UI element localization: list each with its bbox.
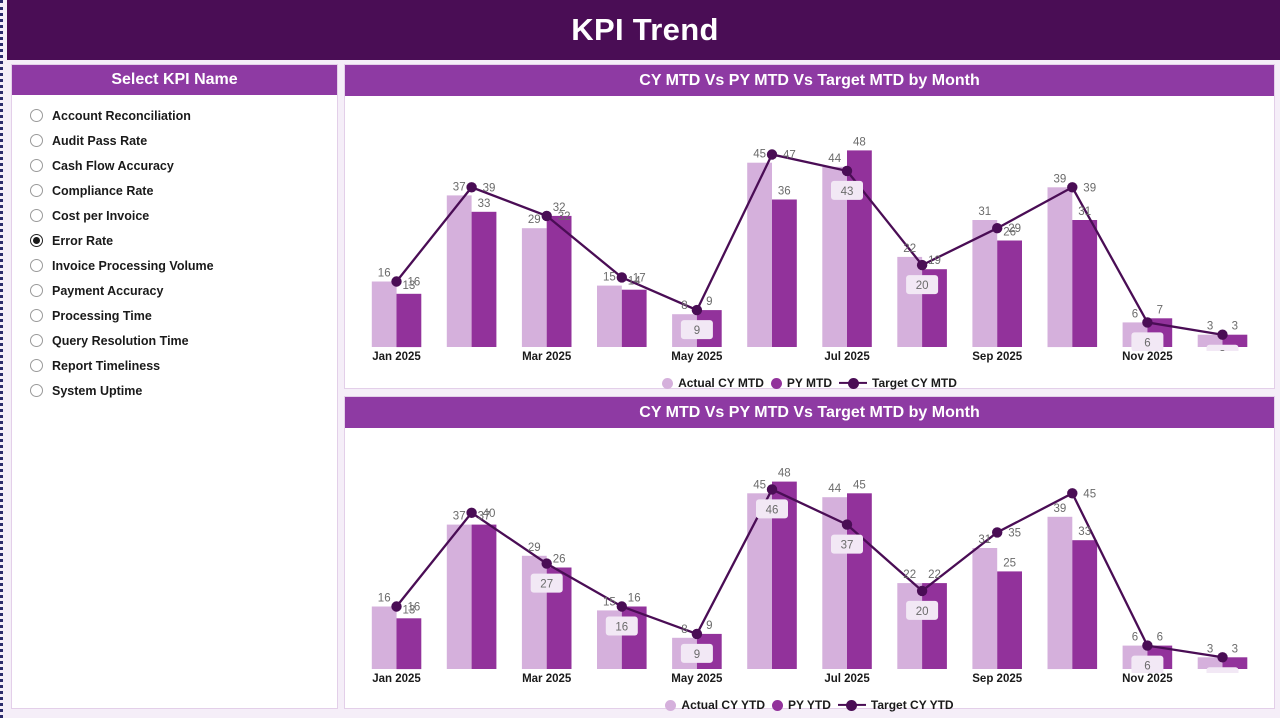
x-axis-tick-label: Nov 2025 (1122, 673, 1173, 685)
kpi-radio-item[interactable]: Error Rate (12, 228, 337, 253)
legend-dot-icon (772, 700, 783, 711)
data-label-py: 19 (928, 255, 941, 267)
data-label-py: 33 (1078, 526, 1091, 538)
bar-actual[interactable] (522, 556, 547, 669)
chart-2-header: CY MTD Vs PY MTD Vs Target MTD by Month (345, 397, 1274, 428)
kpi-radio-label: Report Timeliness (52, 359, 160, 373)
legend-item[interactable]: PY MTD (771, 376, 832, 390)
page-title: KPI Trend (571, 12, 718, 48)
data-label-target: 29 (1008, 223, 1021, 235)
data-label-py: 33 (478, 198, 491, 210)
data-label-py: 3 (1232, 643, 1238, 655)
target-marker[interactable] (917, 260, 927, 270)
kpi-radio-label: Cost per Invoice (52, 209, 149, 223)
data-label-target: 43 (841, 186, 854, 198)
kpi-radio-label: Account Reconciliation (52, 109, 191, 123)
radio-unselected-icon[interactable] (30, 309, 43, 322)
legend-line-marker-icon (839, 378, 867, 389)
legend-label: Actual CY YTD (681, 698, 765, 712)
data-label-actual: 8 (681, 624, 687, 636)
data-label-target: 9 (694, 325, 700, 337)
bar-py[interactable] (397, 294, 422, 347)
x-axis-tick-label: Jul 2025 (824, 351, 869, 363)
kpi-radio-item[interactable]: Cost per Invoice (12, 203, 337, 228)
data-label-target: 20 (916, 280, 929, 292)
kpi-radio-item[interactable]: System Uptime (12, 378, 337, 403)
data-label-actual: 45 (753, 479, 766, 491)
target-marker[interactable] (617, 272, 627, 282)
bar-py[interactable] (997, 241, 1022, 348)
data-label-py: 48 (853, 136, 866, 148)
bar-py[interactable] (547, 216, 572, 347)
radio-unselected-icon[interactable] (30, 159, 43, 172)
data-label-actual: 22 (903, 569, 916, 581)
kpi-radio-label: Payment Accuracy (52, 284, 163, 298)
x-axis-tick-label: Sep 2025 (972, 351, 1022, 363)
data-label-target: 45 (1083, 488, 1096, 500)
target-marker[interactable] (391, 601, 401, 611)
chart-1-x-axis: Jan 2025Mar 2025May 2025Jul 2025Sep 2025… (359, 351, 1260, 371)
target-line (397, 155, 1223, 335)
data-label-actual: 6 (1132, 308, 1138, 320)
data-label-py: 25 (1003, 557, 1016, 569)
data-label-actual: 29 (528, 542, 541, 554)
data-label-actual: 3 (1207, 321, 1213, 333)
kpi-radio-label: Cash Flow Accuracy (52, 159, 174, 173)
target-marker[interactable] (1142, 317, 1152, 327)
data-label-target: 47 (783, 150, 796, 162)
data-label-actual: 37 (453, 181, 466, 193)
data-label-target: 35 (1008, 527, 1021, 539)
kpi-radio-item[interactable]: Audit Pass Rate (12, 128, 337, 153)
chart-2-title: CY MTD Vs PY MTD Vs Target MTD by Month (639, 404, 979, 422)
bar-py[interactable] (922, 583, 947, 669)
legend-label: Target CY YTD (871, 698, 954, 712)
bar-py[interactable] (847, 150, 872, 347)
target-marker[interactable] (542, 211, 552, 221)
target-marker[interactable] (1067, 182, 1077, 192)
chart-card-ytd: CY MTD Vs PY MTD Vs Target MTD by Month … (344, 396, 1275, 709)
data-label-actual: 39 (1054, 173, 1067, 185)
radio-unselected-icon[interactable] (30, 359, 43, 372)
legend-label: Actual CY MTD (678, 376, 764, 390)
data-label-target: 32 (558, 211, 571, 223)
slicer-header-title: Select KPI Name (111, 71, 237, 89)
data-label-py: 9 (706, 296, 712, 308)
legend-item[interactable]: PY YTD (772, 698, 831, 712)
target-marker[interactable] (391, 276, 401, 286)
data-label-actual: 29 (528, 214, 541, 226)
data-label-py: 3 (1232, 321, 1238, 333)
target-marker[interactable] (692, 305, 702, 315)
data-label-target: 16 (408, 277, 421, 289)
data-label-py: 48 (778, 468, 791, 480)
bar-actual[interactable] (897, 583, 922, 669)
data-label-target: 6 (1144, 661, 1150, 673)
target-marker[interactable] (842, 519, 852, 529)
target-marker[interactable] (1217, 330, 1227, 340)
bar-actual[interactable] (972, 548, 997, 669)
kpi-radio-item[interactable]: Query Resolution Time (12, 328, 337, 353)
data-label-py: 26 (553, 554, 566, 566)
data-label-target: 46 (766, 504, 779, 516)
data-label-py: 36 (778, 186, 791, 198)
data-label-target: 40 (483, 508, 496, 520)
kpi-radio-item[interactable]: Payment Accuracy (12, 278, 337, 303)
target-marker[interactable] (466, 508, 476, 518)
target-marker[interactable] (992, 527, 1002, 537)
kpi-radio-label: Processing Time (52, 309, 152, 323)
kpi-radio-label: Audit Pass Rate (52, 134, 147, 148)
kpi-radio-item[interactable]: Compliance Rate (12, 178, 337, 203)
chart-1-title: CY MTD Vs PY MTD Vs Target MTD by Month (639, 72, 979, 90)
target-marker[interactable] (542, 558, 552, 568)
data-label-py: 6 (1157, 632, 1163, 644)
target-marker[interactable] (466, 182, 476, 192)
chart-card-mtd: CY MTD Vs PY MTD Vs Target MTD by Month … (344, 64, 1275, 389)
data-label-actual: 39 (1054, 503, 1067, 515)
radio-unselected-icon[interactable] (30, 209, 43, 222)
bar-py[interactable] (397, 618, 422, 669)
target-marker[interactable] (842, 166, 852, 176)
target-marker[interactable] (767, 149, 777, 159)
data-label-actual: 3 (1207, 643, 1213, 655)
radio-selected-icon[interactable] (30, 234, 43, 247)
chart-1-header: CY MTD Vs PY MTD Vs Target MTD by Month (345, 65, 1274, 96)
target-marker[interactable] (617, 601, 627, 611)
kpi-radio-label: System Uptime (52, 384, 142, 398)
chart-2-plot[interactable]: 1613163737402926271516168994548464445372… (345, 428, 1274, 673)
legend-item[interactable]: Actual CY YTD (665, 698, 765, 712)
data-label-actual: 31 (978, 206, 991, 218)
data-label-actual: 6 (1132, 632, 1138, 644)
data-label-actual: 16 (378, 268, 391, 280)
data-label-target: 17 (633, 272, 646, 284)
kpi-radio-item[interactable]: Report Timeliness (12, 353, 337, 378)
bar-actual[interactable] (447, 195, 472, 347)
bar-py[interactable] (472, 212, 497, 347)
kpi-slicer-panel: Select KPI Name Account ReconciliationAu… (11, 64, 338, 709)
legend-dot-icon (665, 700, 676, 711)
kpi-radio-label: Query Resolution Time (52, 334, 189, 348)
bar-actual[interactable] (747, 493, 772, 669)
kpi-radio-item[interactable]: Account Reconciliation (12, 103, 337, 128)
data-label-target: 6 (1144, 337, 1150, 349)
target-marker[interactable] (917, 586, 927, 596)
radio-unselected-icon[interactable] (30, 334, 43, 347)
data-label-actual: 45 (753, 149, 766, 161)
target-line (397, 489, 1223, 657)
bar-actual[interactable] (447, 525, 472, 669)
bar-actual[interactable] (1048, 187, 1073, 347)
data-label-actual: 44 (828, 153, 841, 165)
data-label-actual: 37 (453, 511, 466, 523)
target-marker[interactable] (767, 484, 777, 494)
target-marker[interactable] (1142, 640, 1152, 650)
kpi-radio-item[interactable]: Cash Flow Accuracy (12, 153, 337, 178)
data-label-actual: 15 (603, 272, 616, 284)
radio-unselected-icon[interactable] (30, 384, 43, 397)
chart-1-plot[interactable]: 1613163733392932321514178994536474448432… (345, 96, 1274, 351)
x-axis-tick-label: Nov 2025 (1122, 351, 1173, 363)
legend-dot-icon (662, 378, 673, 389)
data-label-target: 16 (615, 622, 628, 634)
data-label-target: 39 (483, 182, 496, 194)
bar-py[interactable] (622, 290, 647, 347)
bar-actual[interactable] (372, 282, 397, 348)
dashboard-page: KPI Trend Select KPI Name Account Reconc… (0, 0, 1280, 718)
slicer-header: Select KPI Name (12, 65, 337, 95)
data-label-py: 7 (1157, 304, 1163, 316)
kpi-radio-list: Account ReconciliationAudit Pass RateCas… (12, 95, 337, 403)
chart-1-legend: Actual CY MTDPY MTDTarget CY MTD (345, 371, 1274, 395)
bar-py[interactable] (472, 525, 497, 669)
data-label-target: 37 (841, 540, 854, 552)
bar-py[interactable] (847, 493, 872, 669)
kpi-radio-label: Compliance Rate (52, 184, 153, 198)
x-axis-tick-label: Jan 2025 (372, 673, 421, 685)
data-label-py: 16 (628, 593, 641, 605)
bar-py[interactable] (1072, 540, 1097, 669)
chart-2-x-axis: Jan 2025Mar 2025May 2025Jul 2025Sep 2025… (359, 673, 1260, 693)
radio-unselected-icon[interactable] (30, 134, 43, 147)
target-marker[interactable] (1067, 488, 1077, 498)
data-label-target: 9 (694, 649, 700, 661)
radio-unselected-icon[interactable] (30, 259, 43, 272)
radio-unselected-icon[interactable] (30, 109, 43, 122)
bar-py[interactable] (622, 607, 647, 670)
bar-actual[interactable] (522, 228, 547, 347)
data-label-py: 31 (1078, 206, 1091, 218)
kpi-radio-item[interactable]: Processing Time (12, 303, 337, 328)
data-label-actual: 16 (378, 593, 391, 605)
kpi-radio-label: Error Rate (52, 234, 113, 248)
bar-actual[interactable] (897, 257, 922, 347)
legend-label: PY YTD (788, 698, 831, 712)
data-label-target: 16 (408, 602, 421, 614)
target-marker[interactable] (1217, 652, 1227, 662)
bar-py[interactable] (1072, 220, 1097, 347)
data-label-actual: 8 (681, 300, 687, 312)
legend-item[interactable]: Actual CY MTD (662, 376, 764, 390)
x-axis-tick-label: May 2025 (671, 673, 722, 685)
legend-item[interactable]: Target CY MTD (839, 376, 957, 390)
data-label-target: 27 (540, 579, 553, 591)
x-axis-tick-label: Jul 2025 (824, 673, 869, 685)
kpi-radio-label: Invoice Processing Volume (52, 259, 214, 273)
x-axis-tick-label: Jan 2025 (372, 351, 421, 363)
chart-canvas: 1613163737402926271516168994548464445372… (345, 428, 1274, 673)
data-label-actual: 22 (903, 243, 916, 255)
bar-actual[interactable] (372, 607, 397, 670)
data-label-actual: 44 (828, 483, 841, 495)
data-label-target: 39 (1083, 182, 1096, 194)
x-axis-tick-label: May 2025 (671, 351, 722, 363)
data-label-py: 9 (706, 620, 712, 632)
x-axis-tick-label: Mar 2025 (522, 351, 571, 363)
page-banner: KPI Trend (7, 0, 1280, 60)
data-label-actual: 15 (603, 596, 616, 608)
bar-py[interactable] (997, 571, 1022, 669)
legend-item[interactable]: Target CY YTD (838, 698, 954, 712)
x-axis-tick-label: Mar 2025 (522, 673, 571, 685)
data-label-actual: 31 (978, 534, 991, 546)
data-label-py: 45 (853, 479, 866, 491)
legend-label: PY MTD (787, 376, 832, 390)
bar-actual[interactable] (597, 286, 622, 347)
target-marker[interactable] (692, 629, 702, 639)
radio-unselected-icon[interactable] (30, 284, 43, 297)
legend-line-marker-icon (838, 700, 866, 711)
bar-actual[interactable] (1048, 517, 1073, 669)
legend-label: Target CY MTD (872, 376, 957, 390)
bar-py[interactable] (772, 200, 797, 348)
bar-actual[interactable] (747, 163, 772, 347)
target-marker[interactable] (992, 223, 1002, 233)
legend-dot-icon (771, 378, 782, 389)
kpi-radio-item[interactable]: Invoice Processing Volume (12, 253, 337, 278)
data-label-target: 20 (916, 606, 929, 618)
radio-unselected-icon[interactable] (30, 184, 43, 197)
chart-2-legend: Actual CY YTDPY YTDTarget CY YTD (345, 693, 1274, 717)
chart-canvas: 1613163733392932321514178994536474448432… (345, 96, 1274, 351)
x-axis-tick-label: Sep 2025 (972, 673, 1022, 685)
data-label-py: 22 (928, 569, 941, 581)
